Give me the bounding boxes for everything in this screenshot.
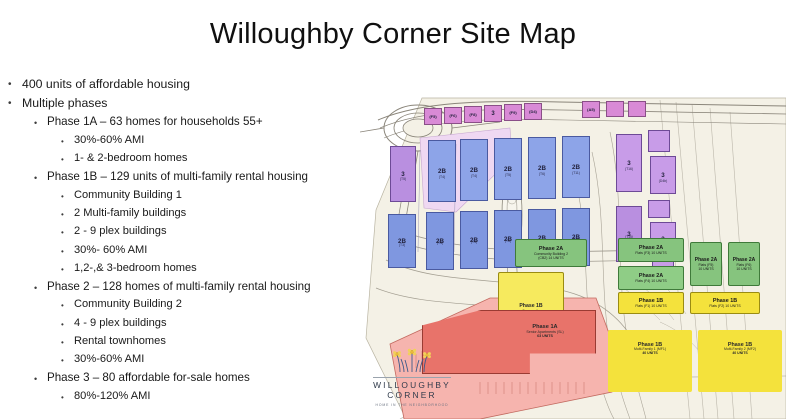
logo-tagline: HOME IN THE NEIGHBORHOOD <box>360 403 464 407</box>
unit-block-townhome <box>648 130 670 152</box>
list-item-label: Community Building 2 <box>74 299 388 311</box>
bullet-dot-icon: • <box>34 281 47 295</box>
bullet-dot-icon: • <box>61 135 74 149</box>
parcel-units: (CB2) 14 UNITS <box>538 256 563 260</box>
unit-label: 2B <box>461 140 487 200</box>
bullet-dot-icon: • <box>61 190 74 204</box>
bullet-dot-icon: • <box>61 245 74 259</box>
unit-block-townhome: 2B <box>460 211 488 269</box>
list-item-label: Rental townhomes <box>74 336 388 348</box>
unit-label: 2B <box>429 141 455 201</box>
list-item: • 2 - 9 plex buildings <box>61 226 388 240</box>
bullet-dot-icon: • <box>34 116 47 130</box>
bullet-dot-icon: • <box>61 208 74 222</box>
page-title: Willoughby Corner Site Map <box>0 18 786 51</box>
parcel-phase-1b-multi-family-1 <box>608 330 692 392</box>
list-item-label: Phase 2 – 128 homes of multi-family rent… <box>47 281 388 293</box>
slide-canvas: Willoughby Corner Site Map • 400 units o… <box>0 0 786 419</box>
list-item-label: 2 - 9 plex buildings <box>74 226 388 238</box>
list-item: • Rental townhomes <box>61 336 388 350</box>
list-item-label: 80%-120% AMI <box>74 391 388 403</box>
list-item: • 80%-120% AMI <box>61 391 388 405</box>
list-item: • 1,2-,& 3-bedroom homes <box>61 263 388 277</box>
parcel-phase-2a-flats-f4: Phase 2A Flats (F4) 10 UNITS <box>618 266 684 290</box>
list-item: • Phase 1B – 129 units of multi-family r… <box>34 171 388 185</box>
unit-block-flat: (A5) <box>582 101 600 118</box>
bullet-dot-icon: • <box>34 171 47 185</box>
list-item-label: Phase 1B – 129 units of multi-family ren… <box>47 171 388 183</box>
list-item: • 30%- 60% AMI <box>61 245 388 259</box>
unit-label: 2B <box>389 215 415 267</box>
bullet-dot-icon: • <box>8 78 22 92</box>
unit-block-townhome <box>648 200 670 218</box>
unit-block-flat: (D4) <box>524 103 542 120</box>
unit-label: 3 <box>391 147 415 201</box>
unit-label: 2B <box>495 139 521 199</box>
unit-block-townhome: 2B <box>460 139 488 201</box>
list-item: • 400 units of affordable housing <box>8 78 388 92</box>
logo-divider <box>373 377 451 378</box>
unit-block-flat: (F8) <box>464 106 482 123</box>
unit-label: (D4) <box>525 104 541 119</box>
unit-block-flat <box>628 101 646 117</box>
list-item-label: 1- & 2-bedroom homes <box>74 153 388 165</box>
unit-block-flat: (F6) <box>444 107 462 124</box>
bullet-dot-icon: • <box>61 226 74 240</box>
list-item-label: 30%- 60% AMI <box>74 245 388 257</box>
unit-label: (A5) <box>583 102 599 117</box>
parcel-units: 10 UNITS <box>698 267 713 271</box>
parcel-phase-1b-multi-family-2 <box>698 330 782 392</box>
parcel-phase-2a-flats-f6: Phase 2A Flats (F6) 10 UNITS <box>728 242 760 286</box>
unit-block-flat: (F9) <box>504 104 522 121</box>
unit-label: 3 <box>485 106 501 121</box>
unit-label: 2B <box>461 212 487 268</box>
unit-label: 2B <box>529 138 555 198</box>
parcel-subtitle: Flats (F4) 10 UNITS <box>635 279 666 283</box>
willoughby-corner-logo: WILLOUGHBY CORNER HOME IN THE NEIGHBORHO… <box>360 348 464 407</box>
unit-label: (F8) <box>465 107 481 122</box>
list-item-label: 30%-60% AMI <box>74 354 388 366</box>
wildflower-icon <box>382 348 442 374</box>
bullet-dot-icon: • <box>61 354 74 368</box>
parcel-phase-2a-community-building: Phase 2A Community Building 2 (CB2) 14 U… <box>515 239 587 267</box>
list-item-label: 4 - 9 plex buildings <box>74 318 388 330</box>
parcel-phase-1b-flats-f2: Phase 1B Flats (F2) 10 UNITS <box>690 292 760 314</box>
bullet-dot-icon: • <box>61 336 74 350</box>
parcel-subtitle: Flats (F2) 10 UNITS <box>709 304 740 308</box>
unit-label: 3 <box>651 157 675 193</box>
list-item: • Phase 1A – 63 homes for households 55+ <box>34 116 388 130</box>
unit-block-townhome: 2B <box>528 137 556 199</box>
unit-block-flat: (F5) <box>424 108 442 125</box>
list-item: • Phase 2 – 128 homes of multi-family re… <box>34 281 388 295</box>
list-item-label: 1,2-,& 3-bedroom homes <box>74 263 388 275</box>
bullet-dot-icon: • <box>61 153 74 167</box>
bullet-dot-icon: • <box>61 318 74 332</box>
unit-block-flat: 3 <box>484 105 502 122</box>
unit-block-townhome: 2B <box>426 212 454 270</box>
list-item: • 30%-60% AMI <box>61 135 388 149</box>
list-item-label: 2 Multi-family buildings <box>74 208 388 220</box>
list-item-label: 30%-60% AMI <box>74 135 388 147</box>
unit-block-townhome: 3 <box>390 146 416 202</box>
list-item: • 2 Multi-family buildings <box>61 208 388 222</box>
parcel-phase-2a-flats-f5: Phase 2A Flats (F5) 10 UNITS <box>690 242 722 286</box>
list-item-label: Community Building 1 <box>74 190 388 202</box>
bullet-list: • 400 units of affordable housing • Mult… <box>8 78 388 409</box>
list-item: • Community Building 2 <box>61 299 388 313</box>
parcel-phase-1b-flats-f1: Phase 1B Flats (F1) 10 UNITS <box>618 292 684 314</box>
unit-block-townhome: 2B <box>428 140 456 202</box>
unit-block-townhome: 2B <box>494 138 522 200</box>
logo-name-line1: WILLOUGHBY <box>360 380 464 390</box>
unit-block-townhome: 2B <box>388 214 416 268</box>
unit-block-townhome: 3 <box>616 134 642 192</box>
unit-label: 3 <box>617 135 641 191</box>
bullet-dot-icon: • <box>8 97 22 111</box>
list-item: • Multiple phases <box>8 97 388 111</box>
unit-label: (F9) <box>505 105 521 120</box>
unit-label: 2B <box>563 137 589 197</box>
bullet-dot-icon: • <box>34 372 47 386</box>
unit-block-townhome: 2B <box>562 136 590 198</box>
bullet-dot-icon: • <box>61 299 74 313</box>
unit-block-flat <box>606 101 624 117</box>
list-item: • 4 - 9 plex buildings <box>61 318 388 332</box>
list-item-label: 400 units of affordable housing <box>22 78 388 91</box>
list-item: • Community Building 1 <box>61 190 388 204</box>
parcel-phase-2a-flats-f3: Phase 2A Flats (F3) 10 UNITS <box>618 238 684 262</box>
parcel-subtitle: Flats (F1) 10 UNITS <box>635 304 666 308</box>
list-item-label: Phase 3 – 80 affordable for-sale homes <box>47 372 388 384</box>
list-item-label: Multiple phases <box>22 97 388 110</box>
unit-label: 2B <box>427 213 453 269</box>
unit-label: (F6) <box>445 108 461 123</box>
logo-name-line2: CORNER <box>360 390 464 400</box>
list-item: • Phase 3 – 80 affordable for-sale homes <box>34 372 388 386</box>
list-item-label: Phase 1A – 63 homes for households 55+ <box>47 116 388 128</box>
parcel-units: 10 UNITS <box>736 267 751 271</box>
bullet-dot-icon: • <box>61 263 74 277</box>
unit-label: (F5) <box>425 109 441 124</box>
list-item: • 30%-60% AMI <box>61 354 388 368</box>
unit-block-townhome: 3 <box>650 156 676 194</box>
bullet-dot-icon: • <box>61 391 74 405</box>
list-item: • 1- & 2-bedroom homes <box>61 153 388 167</box>
parcel-subtitle: Flats (F3) 10 UNITS <box>635 251 666 255</box>
